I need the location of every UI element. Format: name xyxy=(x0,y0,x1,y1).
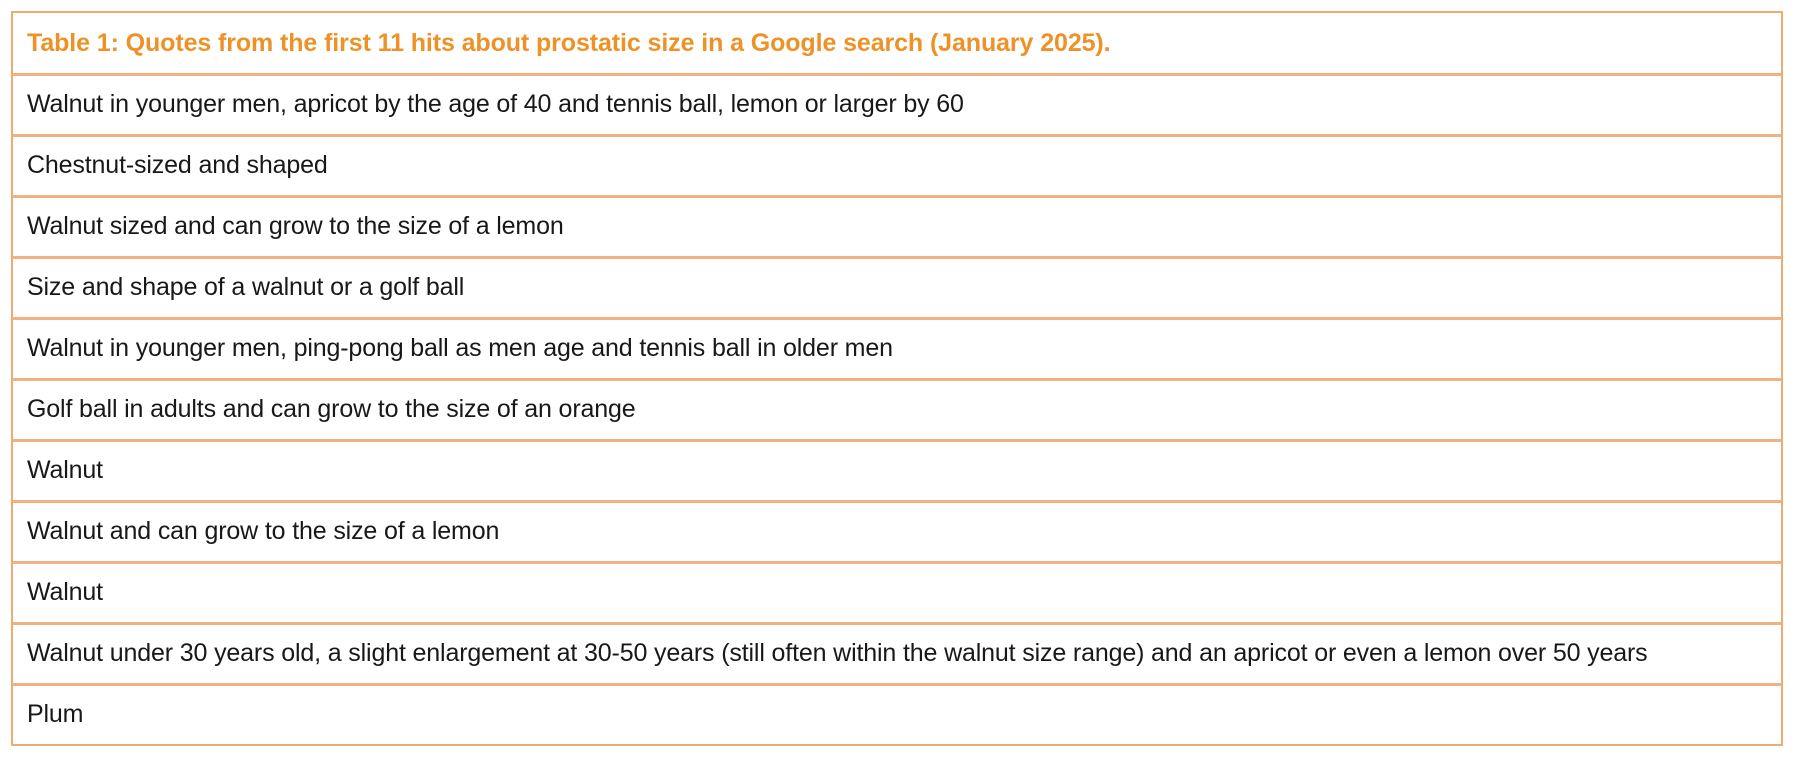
quote-text: Walnut under 30 years old, a slight enla… xyxy=(27,637,1767,670)
page-root: Table 1: Quotes from the first 11 hits a… xyxy=(0,0,1800,771)
quote-text: Walnut in younger men, apricot by the ag… xyxy=(27,88,1767,121)
quote-text: Plum xyxy=(27,698,1767,731)
quote-text: Size and shape of a walnut or a golf bal… xyxy=(27,271,1767,304)
quote-text: Walnut xyxy=(27,454,1767,487)
quote-text: Chestnut-sized and shaped xyxy=(27,149,1767,182)
quotes-table: Table 1: Quotes from the first 11 hits a… xyxy=(11,11,1783,746)
table-row: Walnut in younger men, apricot by the ag… xyxy=(13,76,1781,137)
table-body: Walnut in younger men, apricot by the ag… xyxy=(13,76,1781,744)
quote-text: Walnut in younger men, ping-pong ball as… xyxy=(27,332,1767,365)
quote-text: Walnut sized and can grow to the size of… xyxy=(27,210,1767,243)
table-row: Size and shape of a walnut or a golf bal… xyxy=(13,259,1781,320)
quote-text: Golf ball in adults and can grow to the … xyxy=(27,393,1767,426)
table-row: Golf ball in adults and can grow to the … xyxy=(13,381,1781,442)
table-row: Chestnut-sized and shaped xyxy=(13,137,1781,198)
table-row: Walnut under 30 years old, a slight enla… xyxy=(13,625,1781,686)
table-row: Walnut sized and can grow to the size of… xyxy=(13,198,1781,259)
table-row: Walnut xyxy=(13,564,1781,625)
table-row: Plum xyxy=(13,686,1781,744)
quote-text: Walnut xyxy=(27,576,1767,609)
table-row: Walnut in younger men, ping-pong ball as… xyxy=(13,320,1781,381)
quote-text: Walnut and can grow to the size of a lem… xyxy=(27,515,1767,548)
table-row: Walnut and can grow to the size of a lem… xyxy=(13,503,1781,564)
table-caption: Table 1: Quotes from the first 11 hits a… xyxy=(13,13,1781,76)
table-row: Walnut xyxy=(13,442,1781,503)
